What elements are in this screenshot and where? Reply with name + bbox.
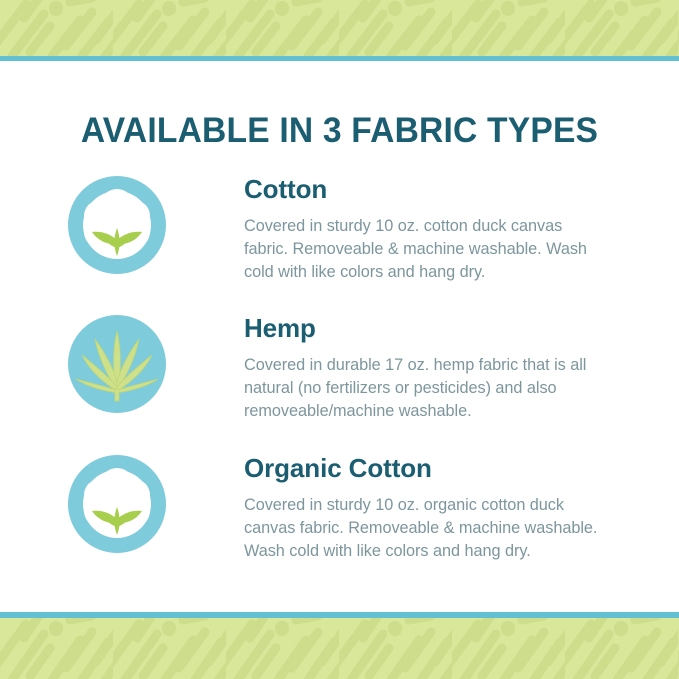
page-title: AVAILABLE IN 3 FABRIC TYPES — [14, 111, 666, 151]
top-teal-rule — [0, 56, 679, 61]
diagonal-stripe-pattern-top — [0, 0, 679, 56]
top-decorative-band — [0, 0, 679, 61]
cotton-boll-icon — [66, 174, 168, 276]
fabric-text-hemp: Hemp Covered in durable 17 oz. hemp fabr… — [168, 311, 679, 423]
fabric-description: Covered in sturdy 10 oz. cotton duck can… — [244, 215, 604, 284]
fabric-heading: Hemp — [244, 313, 679, 343]
fabric-row-cotton: Cotton Covered in sturdy 10 oz. cotton d… — [0, 172, 679, 311]
fabric-description: Covered in sturdy 10 oz. organic cotton … — [244, 494, 604, 563]
infographic-page: AVAILABLE IN 3 FABRIC TYPES — [0, 0, 679, 679]
fabric-text-organic-cotton: Organic Cotton Covered in sturdy 10 oz. … — [168, 451, 679, 563]
bottom-decorative-band — [0, 612, 679, 679]
diagonal-stripe-pattern-bottom — [0, 618, 679, 679]
fabric-row-organic-cotton: Organic Cotton Covered in sturdy 10 oz. … — [0, 451, 679, 591]
fabric-heading: Organic Cotton — [244, 453, 679, 483]
fabric-heading: Cotton — [244, 174, 679, 204]
cotton-boll-icon — [66, 453, 168, 555]
fabric-text-cotton: Cotton Covered in sturdy 10 oz. cotton d… — [168, 172, 679, 284]
fabric-description: Covered in durable 17 oz. hemp fabric th… — [244, 354, 604, 423]
fabric-row-hemp: Hemp Covered in durable 17 oz. hemp fabr… — [0, 311, 679, 451]
fabric-list: Cotton Covered in sturdy 10 oz. cotton d… — [0, 172, 679, 591]
hemp-leaf-icon — [66, 313, 168, 415]
